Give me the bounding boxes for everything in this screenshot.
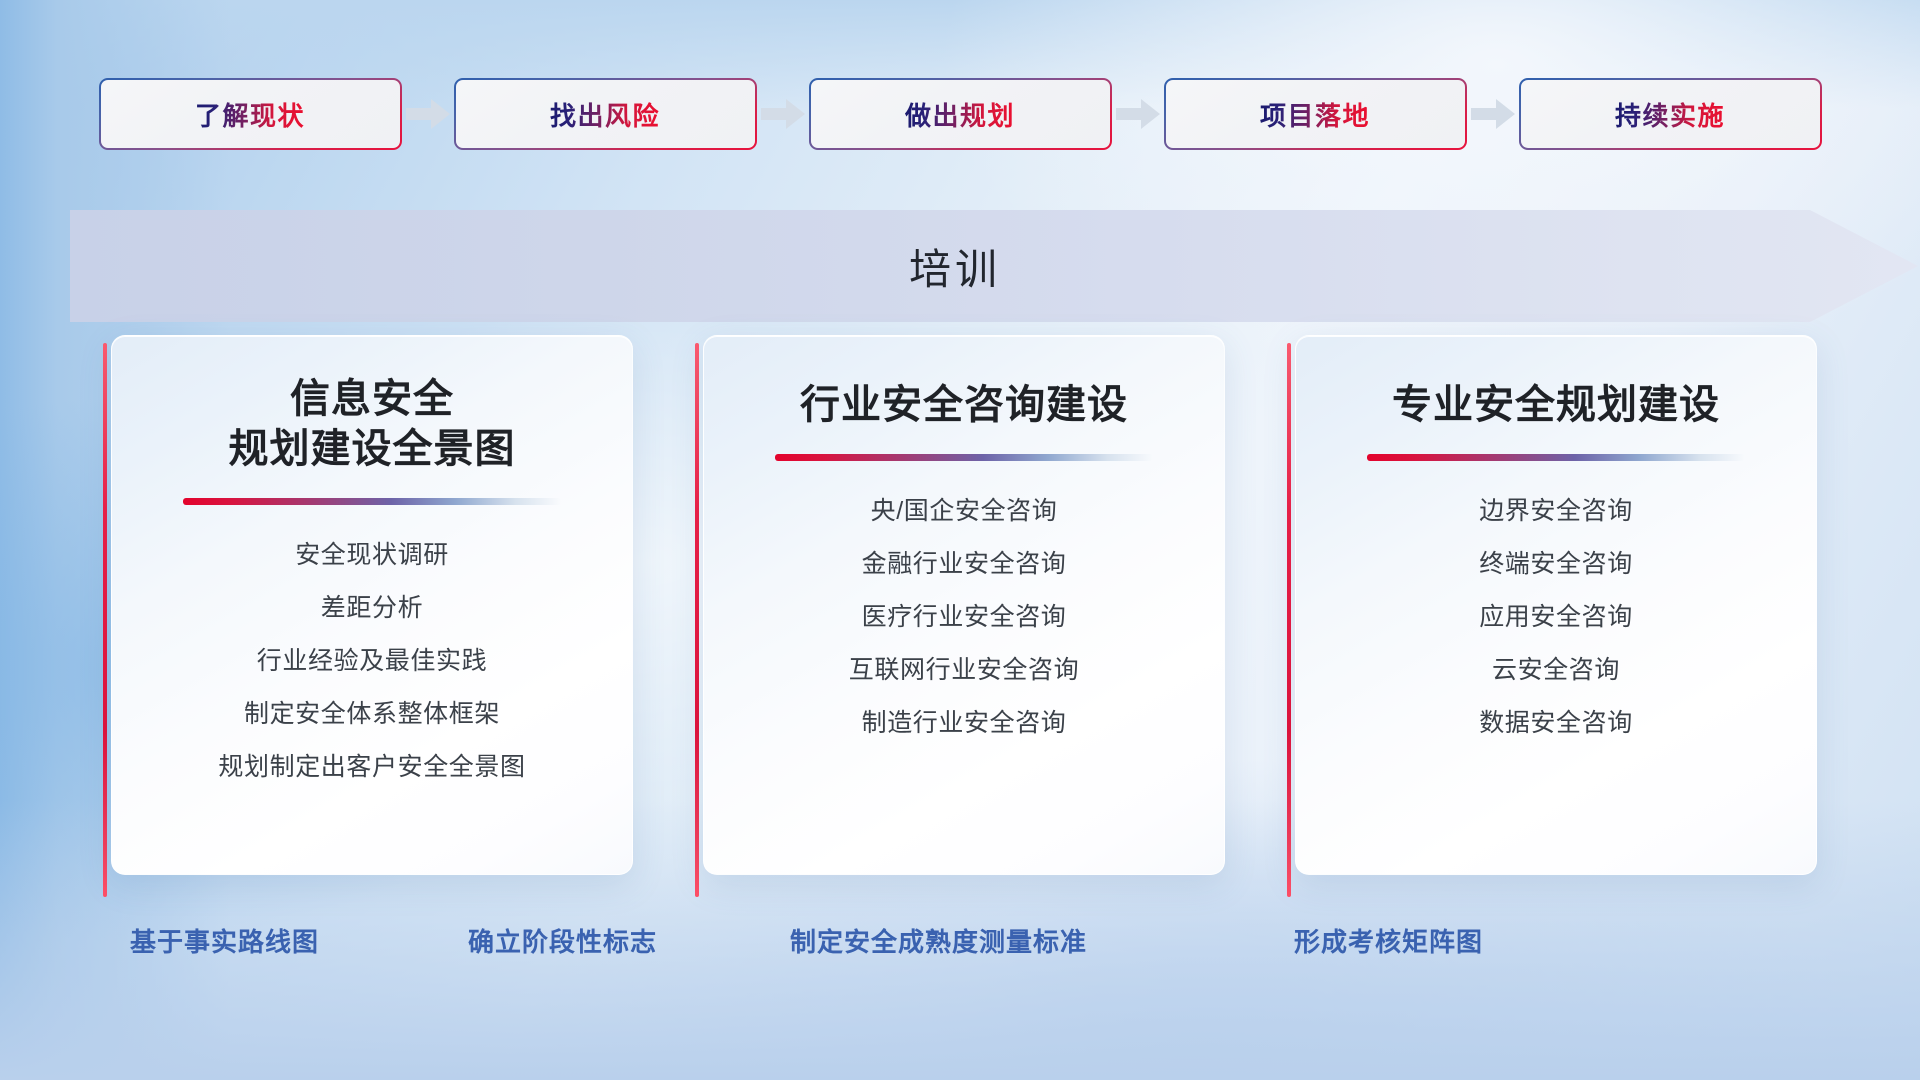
step-label: 了解现状 bbox=[195, 96, 305, 133]
card-title-line: 专业安全规划建设 bbox=[1392, 380, 1720, 430]
card-list: 央/国企安全咨询 金融行业安全咨询 医疗行业安全咨询 互联网行业安全咨询 制造行… bbox=[704, 491, 1224, 739]
list-item: 行业经验及最佳实践 bbox=[257, 641, 487, 677]
list-item: 数据安全咨询 bbox=[1479, 703, 1633, 739]
list-item: 差距分析 bbox=[321, 588, 423, 624]
card-list: 边界安全咨询 终端安全咨询 应用安全咨询 云安全咨询 数据安全咨询 bbox=[1296, 491, 1816, 739]
card-divider bbox=[1367, 454, 1745, 461]
step-arrow-icon-1 bbox=[402, 78, 454, 150]
cards-row: 信息安全 规划建设全景图 安全现状调研 差距分析 行业经验及最佳实践 制定安全体… bbox=[0, 335, 1920, 875]
bottom-label-1: 基于事实路线图 bbox=[130, 915, 319, 965]
banner-title: 培训 bbox=[70, 210, 1840, 322]
process-steps-row: 了解现状 找出风险 做出规划 项目落地 持续实施 bbox=[0, 78, 1920, 150]
list-item: 应用安全咨询 bbox=[1479, 597, 1633, 633]
list-item: 制定安全体系整体框架 bbox=[244, 694, 500, 730]
list-item: 边界安全咨询 bbox=[1479, 491, 1633, 527]
card-industry-security-consulting[interactable]: 行业安全咨询建设 央/国企安全咨询 金融行业安全咨询 医疗行业安全咨询 互联网行… bbox=[695, 335, 1225, 875]
list-item: 央/国企安全咨询 bbox=[871, 491, 1058, 527]
bottom-labels-row: 基于事实路线图 确立阶段性标志 制定安全成熟度测量标准 形成考核矩阵图 bbox=[0, 915, 1920, 965]
bottom-label-4: 形成考核矩阵图 bbox=[1294, 915, 1483, 965]
list-item: 制造行业安全咨询 bbox=[862, 703, 1067, 739]
list-item: 安全现状调研 bbox=[295, 535, 449, 571]
step-arrow-icon-4 bbox=[1467, 78, 1519, 150]
card-title-line: 信息安全 bbox=[229, 374, 516, 424]
card-title: 行业安全咨询建设 bbox=[782, 380, 1146, 430]
list-item: 云安全咨询 bbox=[1492, 650, 1620, 686]
list-item: 金融行业安全咨询 bbox=[862, 544, 1067, 580]
step-label: 找出风险 bbox=[550, 96, 660, 133]
card-accent-bar bbox=[103, 343, 107, 897]
card-title-line: 行业安全咨询建设 bbox=[800, 380, 1128, 430]
step-label: 项目落地 bbox=[1260, 96, 1370, 133]
card-title: 信息安全 规划建设全景图 bbox=[211, 374, 534, 474]
step-button-3[interactable]: 做出规划 bbox=[809, 78, 1112, 150]
step-arrow-icon-2 bbox=[757, 78, 809, 150]
step-label: 做出规划 bbox=[905, 96, 1015, 133]
card-body: 行业安全咨询建设 央/国企安全咨询 金融行业安全咨询 医疗行业安全咨询 互联网行… bbox=[703, 335, 1225, 875]
card-accent-bar bbox=[695, 343, 699, 897]
card-title: 专业安全规划建设 bbox=[1374, 380, 1738, 430]
list-item: 终端安全咨询 bbox=[1479, 544, 1633, 580]
step-button-1[interactable]: 了解现状 bbox=[99, 78, 402, 150]
step-arrow-icon-3 bbox=[1112, 78, 1164, 150]
card-body: 专业安全规划建设 边界安全咨询 终端安全咨询 应用安全咨询 云安全咨询 数据安全… bbox=[1295, 335, 1817, 875]
bottom-label-2: 确立阶段性标志 bbox=[468, 915, 657, 965]
card-title-line: 规划建设全景图 bbox=[229, 424, 516, 474]
step-button-2[interactable]: 找出风险 bbox=[454, 78, 757, 150]
card-information-security-blueprint[interactable]: 信息安全 规划建设全景图 安全现状调研 差距分析 行业经验及最佳实践 制定安全体… bbox=[103, 335, 633, 875]
card-divider bbox=[183, 498, 561, 505]
list-item: 规划制定出客户安全全景图 bbox=[218, 747, 525, 783]
step-button-5[interactable]: 持续实施 bbox=[1519, 78, 1822, 150]
list-item: 互联网行业安全咨询 bbox=[849, 650, 1079, 686]
card-professional-security-planning[interactable]: 专业安全规划建设 边界安全咨询 终端安全咨询 应用安全咨询 云安全咨询 数据安全… bbox=[1287, 335, 1817, 875]
card-accent-bar bbox=[1287, 343, 1291, 897]
card-body: 信息安全 规划建设全景图 安全现状调研 差距分析 行业经验及最佳实践 制定安全体… bbox=[111, 335, 633, 875]
step-label: 持续实施 bbox=[1615, 96, 1725, 133]
card-divider bbox=[775, 454, 1153, 461]
card-list: 安全现状调研 差距分析 行业经验及最佳实践 制定安全体系整体框架 规划制定出客户… bbox=[112, 535, 632, 783]
step-button-4[interactable]: 项目落地 bbox=[1164, 78, 1467, 150]
bottom-label-3: 制定安全成熟度测量标准 bbox=[790, 915, 1087, 965]
training-banner: 培训 bbox=[70, 210, 1918, 322]
list-item: 医疗行业安全咨询 bbox=[862, 597, 1067, 633]
